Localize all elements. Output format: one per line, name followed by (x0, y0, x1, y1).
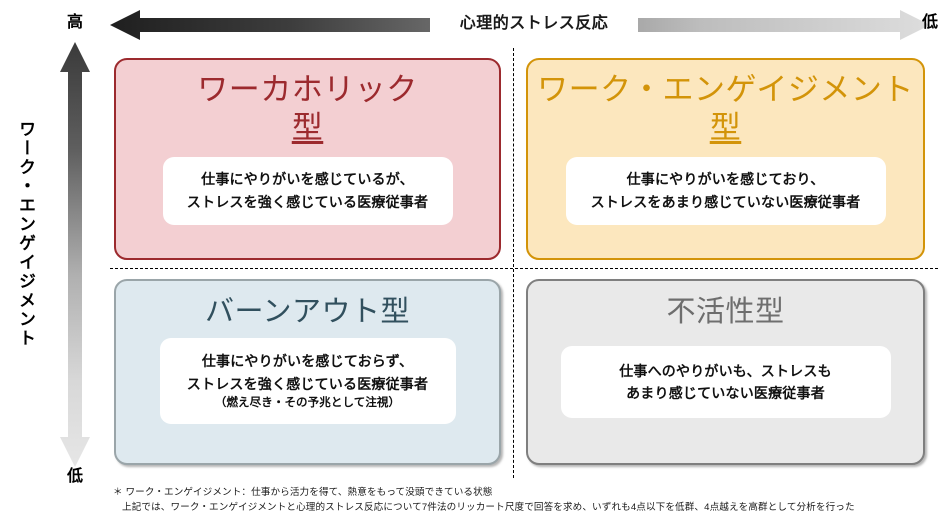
description-line-2: あまり感じていない医療従事者 (561, 382, 891, 405)
description-note: （燃え尽き・その予兆として注視） (160, 395, 456, 412)
quadrant-work-engagement-title-line1: ワーク・エンゲイジメント (537, 72, 914, 107)
horizontal-divider (110, 268, 938, 269)
quadrant-burnout-title-line1: バーンアウト型 (205, 296, 410, 328)
quadrant-work-engagement-title-line2: 型 (710, 109, 742, 147)
quadrant-burnout-description: 仕事にやりがいを感じておらず、 ストレスを強く感じている医療従事者 （燃え尽き・… (160, 338, 456, 424)
quadrant-workaholic-title-line1: ワーカホリック (197, 72, 418, 107)
quadrant-work-engagement[interactable]: ワーク・エンゲイジメント 型 仕事にやりがいを感じており、 ストレスをあまり感じ… (526, 58, 925, 260)
quadrant-work-engagement-title: ワーク・エンゲイジメント 型 (528, 60, 923, 147)
quadrant-work-engagement-description: 仕事にやりがいを感じており、 ストレスをあまり感じていない医療従事者 (566, 157, 886, 225)
footnote-line-2: 上記では、ワーク・エンゲイジメントと心理的ストレス反応について7件法のリッカート… (113, 501, 913, 516)
quadrant-workaholic-title-line2: 型 (292, 109, 324, 147)
description-line-1: 仕事にやりがいを感じておらず、 (160, 350, 456, 373)
vertical-axis-label: ワーク・エンゲイジメント (12, 120, 38, 348)
vertical-divider (513, 48, 514, 478)
description-line-2: ストレスをあまり感じていない医療従事者 (566, 191, 886, 214)
description-line-1: 仕事へのやりがいも、ストレスも (561, 360, 891, 383)
vertical-axis-arrow (58, 42, 92, 467)
footnote: ＊ ワーク・エンゲイジメント：仕事から活力を得て、熱意をもって没頭できている状態… (113, 486, 913, 516)
quadrant-workaholic-description: 仕事にやりがいを感じているが、 ストレスを強く感じている医療従事者 (163, 157, 453, 225)
horizontal-axis-arrow: 心理的ストレス反応 (110, 8, 930, 42)
description-line-1: 仕事にやりがいを感じているが、 (163, 168, 453, 191)
vertical-axis-high-label: 高 (58, 12, 92, 34)
quadrant-inactive-title: 不活性型 (528, 281, 923, 330)
footnote-line-1: ＊ ワーク・エンゲイジメント：仕事から活力を得て、熱意をもって没頭できている状態 (113, 486, 913, 501)
quadrant-diagram: 心理的ストレス反応 低 ワーク・エンゲイジメント 高 低 ワーカホリック 型 (0, 0, 940, 530)
horizontal-axis-label: 心理的ストレス反応 (430, 11, 638, 37)
description-line-2: ストレスを強く感じている医療従事者 (160, 373, 456, 396)
quadrant-workaholic[interactable]: ワーカホリック 型 仕事にやりがいを感じているが、 ストレスを強く感じている医療… (114, 58, 501, 260)
quadrant-inactive[interactable]: 不活性型 仕事へのやりがいも、ストレスも あまり感じていない医療従事者 (526, 279, 925, 465)
horizontal-axis-low-label: 低 (922, 12, 938, 34)
vertical-arrow-icon (58, 42, 92, 467)
quadrant-burnout-title: バーンアウト型 (116, 281, 499, 330)
quadrant-inactive-title-line1: 不活性型 (666, 296, 784, 328)
description-line-1: 仕事にやりがいを感じており、 (566, 168, 886, 191)
description-line-2: ストレスを強く感じている医療従事者 (163, 191, 453, 214)
quadrant-burnout[interactable]: バーンアウト型 仕事にやりがいを感じておらず、 ストレスを強く感じている医療従事… (114, 279, 501, 465)
vertical-axis-low-label: 低 (58, 466, 92, 488)
quadrant-inactive-description: 仕事へのやりがいも、ストレスも あまり感じていない医療従事者 (561, 346, 891, 418)
quadrant-workaholic-title: ワーカホリック 型 (116, 60, 499, 147)
